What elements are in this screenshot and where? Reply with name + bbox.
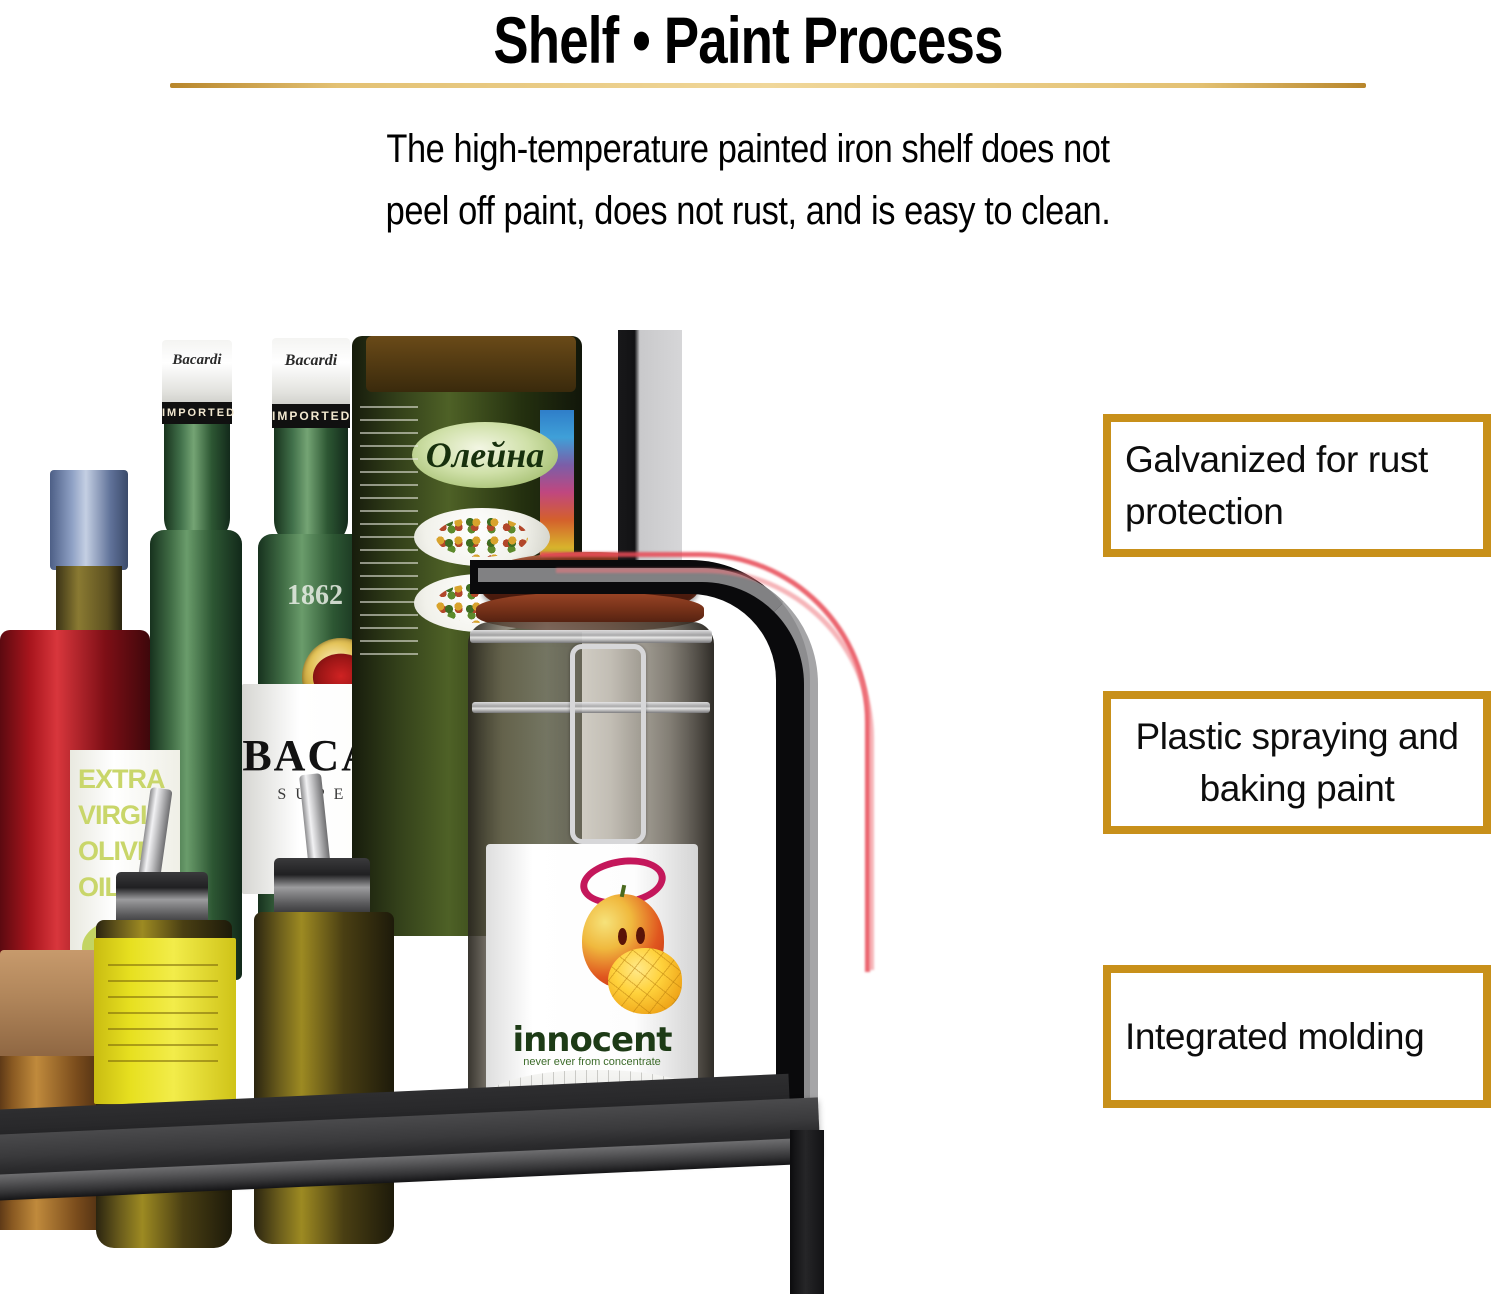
product-photo: Bacardi IMPORTED Bacardi IMPORTED 1862 B… <box>0 330 900 1294</box>
oleina-fineprint <box>360 406 418 656</box>
dispenser-label-text <box>108 964 218 1074</box>
embossed-year: 1862 <box>272 580 358 612</box>
feature-text: Galvanized for rust protection <box>1111 434 1483 538</box>
dispenser-body <box>254 912 394 1244</box>
bottle-cap <box>162 340 232 408</box>
food-garnish <box>436 517 529 556</box>
header: Shelf • Paint Process The high-temperatu… <box>0 0 1496 250</box>
bottle-neck <box>164 424 230 544</box>
feature-text: Plastic spraying and baking paint <box>1111 711 1483 815</box>
oleina-wordmark: Олейна <box>412 434 558 476</box>
bottle-neck <box>274 428 348 548</box>
pour-spout <box>299 773 331 871</box>
blue-cap <box>50 470 128 570</box>
feature-box-galvanized: Galvanized for rust protection <box>1103 414 1491 557</box>
shelf-leg <box>790 1130 824 1294</box>
subtitle: The high-temperature painted iron shelf … <box>318 118 1178 242</box>
cap-script: Bacardi <box>162 352 232 369</box>
imported-band: IMPORTED <box>162 402 232 424</box>
page-title: Shelf • Paint Process <box>150 2 1347 78</box>
pour-spout <box>137 787 172 885</box>
title-divider <box>170 83 1366 88</box>
feature-text: Integrated molding <box>1111 1011 1483 1063</box>
subtitle-line-2: peel off paint, does not rust, and is ea… <box>318 180 1178 242</box>
feature-box-integrated-molding: Integrated molding <box>1103 965 1491 1108</box>
cap-script: Bacardi <box>272 352 350 370</box>
bottle-cap <box>272 338 350 410</box>
imported-band: IMPORTED <box>272 404 350 428</box>
feature-box-plastic-spraying: Plastic spraying and baking paint <box>1103 691 1491 834</box>
molding-accent-arc-secondary <box>556 568 874 970</box>
oleina-cap <box>366 336 576 392</box>
subtitle-line-1: The high-temperature painted iron shelf … <box>318 118 1178 180</box>
